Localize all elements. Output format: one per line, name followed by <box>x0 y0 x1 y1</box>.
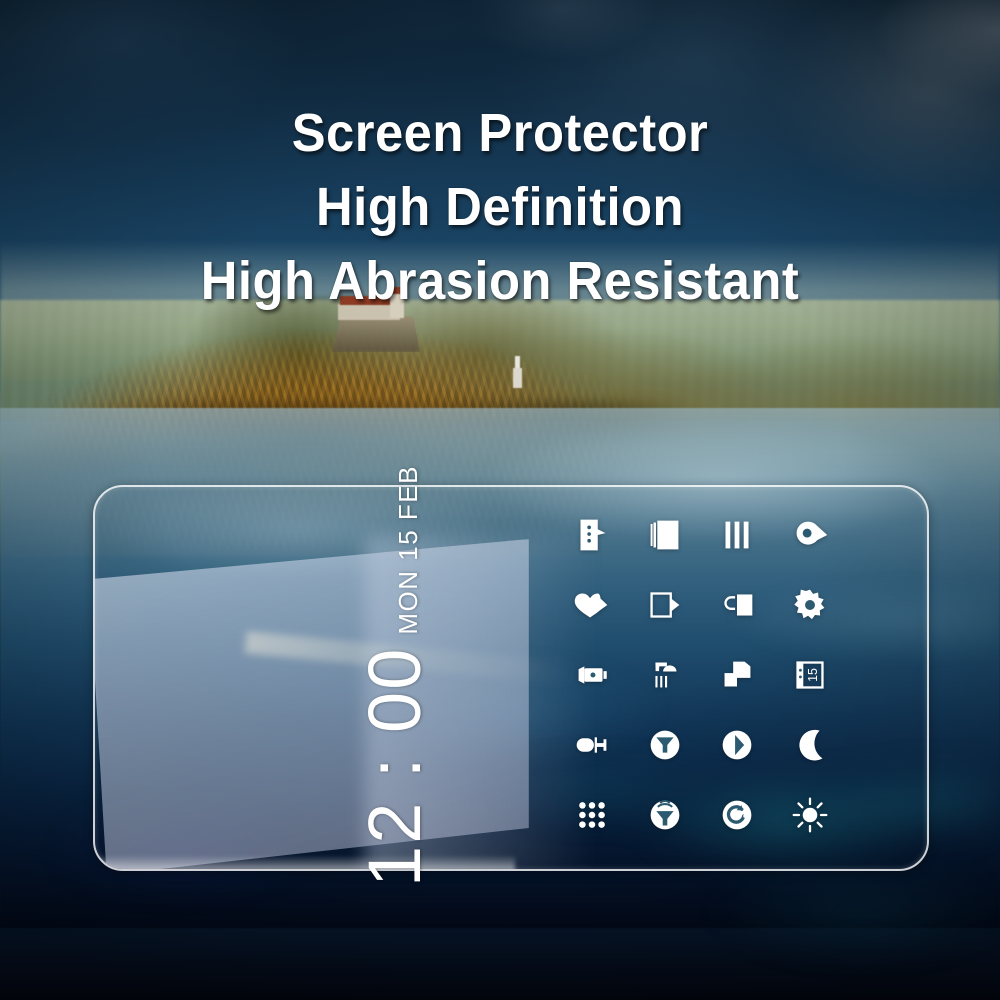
funnel-filter-icon[interactable] <box>642 722 688 768</box>
heart-icon[interactable] <box>569 582 615 628</box>
clock-date: MON 15 FEB <box>395 465 427 635</box>
clock-icon[interactable] <box>714 722 760 768</box>
message-bubble-icon[interactable] <box>569 512 615 558</box>
screen-protector-bottom-edge <box>95 855 515 871</box>
book-pages-icon[interactable] <box>642 512 688 558</box>
shower-spray-icon[interactable] <box>642 652 688 698</box>
copy-documents-icon[interactable] <box>714 652 760 698</box>
headline-line-2: High Definition <box>30 170 970 244</box>
hotspot-wifi-icon[interactable] <box>642 792 688 838</box>
padlock-icon[interactable] <box>714 582 760 628</box>
product-headline: Screen Protector High Definition High Ab… <box>30 96 970 318</box>
microphone-icon[interactable] <box>569 722 615 768</box>
sun-brightness-icon[interactable] <box>787 792 833 838</box>
flashlight-icon[interactable] <box>569 652 615 698</box>
headline-line-1: Screen Protector <box>30 96 970 170</box>
app-grid-icon[interactable] <box>569 792 615 838</box>
calendar-day-number: 15 <box>806 668 820 682</box>
lockscreen-icon-grid: 15 <box>556 500 846 850</box>
product-banner: Screen Protector High Definition High Ab… <box>0 0 1000 1000</box>
calendar-icon[interactable]: 15 <box>787 652 833 698</box>
headline-line-3: High Abrasion Resistant <box>30 244 970 318</box>
screen-protector-film-edge <box>93 539 539 871</box>
gear-icon[interactable] <box>787 582 833 628</box>
vertical-bars-icon[interactable] <box>714 512 760 558</box>
crescent-moon-icon[interactable] <box>787 722 833 768</box>
video-camera-icon[interactable] <box>642 582 688 628</box>
clock-time: 12 : 00 <box>363 647 427 887</box>
location-pin-icon[interactable] <box>787 512 833 558</box>
lockscreen-clock: 12 : 00 MON 15 FEB <box>330 560 460 792</box>
rotate-sync-icon[interactable] <box>714 792 760 838</box>
